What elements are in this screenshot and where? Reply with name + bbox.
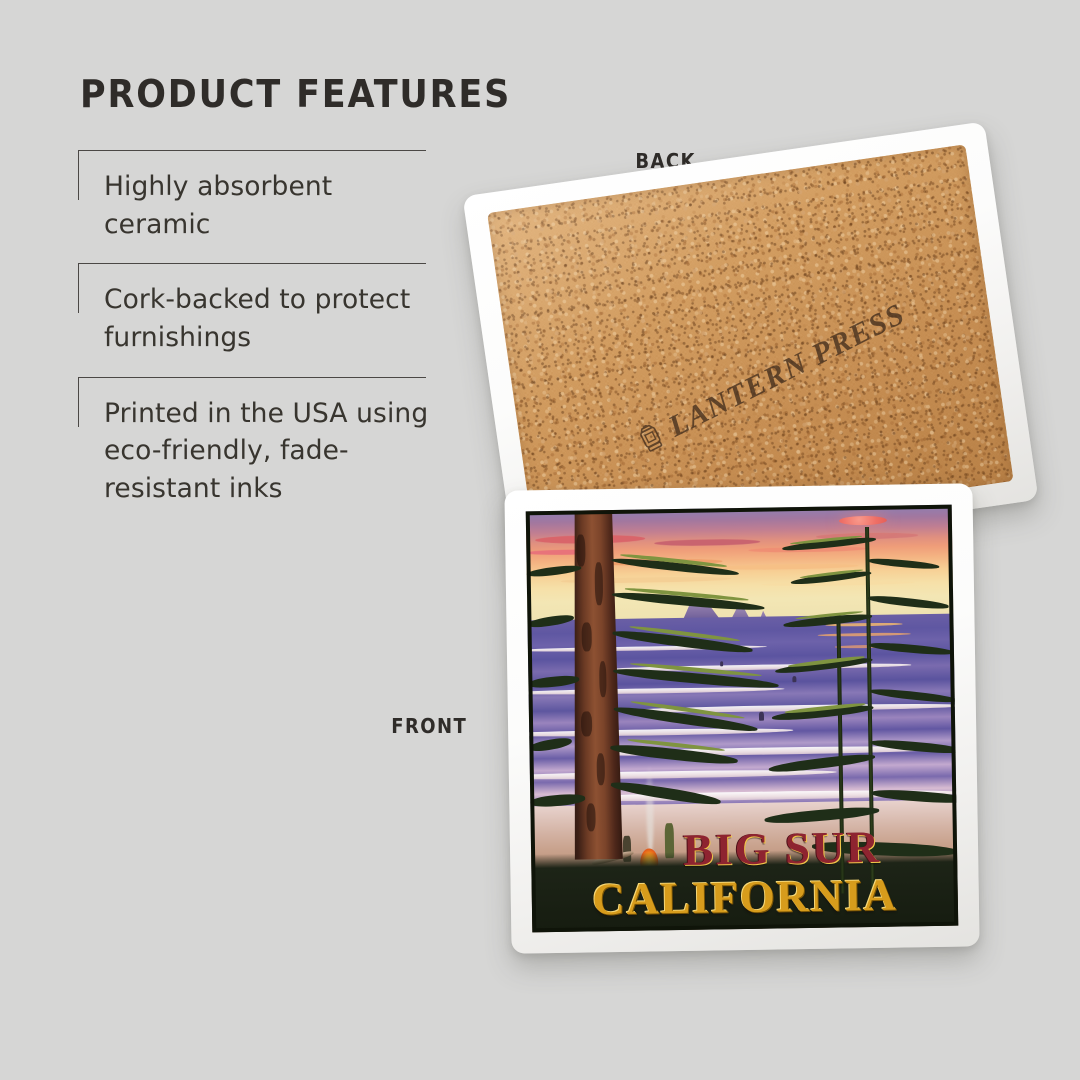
artwork-subtitle: CALIFORNIA — [531, 871, 958, 923]
front-label: FRONT — [391, 714, 467, 738]
surfer — [792, 676, 796, 682]
feature-divider-line — [78, 263, 426, 264]
feature-divider-line — [78, 150, 426, 151]
artwork-title-block: BIG SUR CALIFORNIA — [531, 823, 958, 923]
artwork-title: BIG SUR — [531, 823, 958, 875]
list-item: Printed in the USA using eco-friendly, f… — [78, 377, 438, 528]
artwork-image: BIG SUR CALIFORNIA — [526, 505, 959, 933]
list-item: Highly absorbent ceramic — [78, 150, 438, 263]
feature-text: Printed in the USA using eco-friendly, f… — [78, 395, 438, 508]
feature-text: Cork-backed to protect furnishings — [78, 281, 438, 356]
artwork-scene: BIG SUR CALIFORNIA — [526, 505, 959, 933]
page-title: PRODUCT FEATURES — [80, 72, 409, 116]
feature-bracket-tick — [78, 263, 79, 313]
feature-text: Highly absorbent ceramic — [78, 168, 438, 243]
feature-bracket-tick — [78, 377, 79, 427]
front-coaster: BIG SUR CALIFORNIA — [504, 483, 979, 953]
list-item: Cork-backed to protect furnishings — [78, 263, 438, 376]
feature-bracket-tick — [78, 150, 79, 200]
sun-icon — [839, 515, 887, 526]
product-features-panel: PRODUCT FEATURES Highly absorbent cerami… — [78, 72, 438, 527]
surfer — [759, 712, 764, 720]
feature-divider-line — [78, 377, 426, 378]
surfer — [720, 661, 723, 666]
